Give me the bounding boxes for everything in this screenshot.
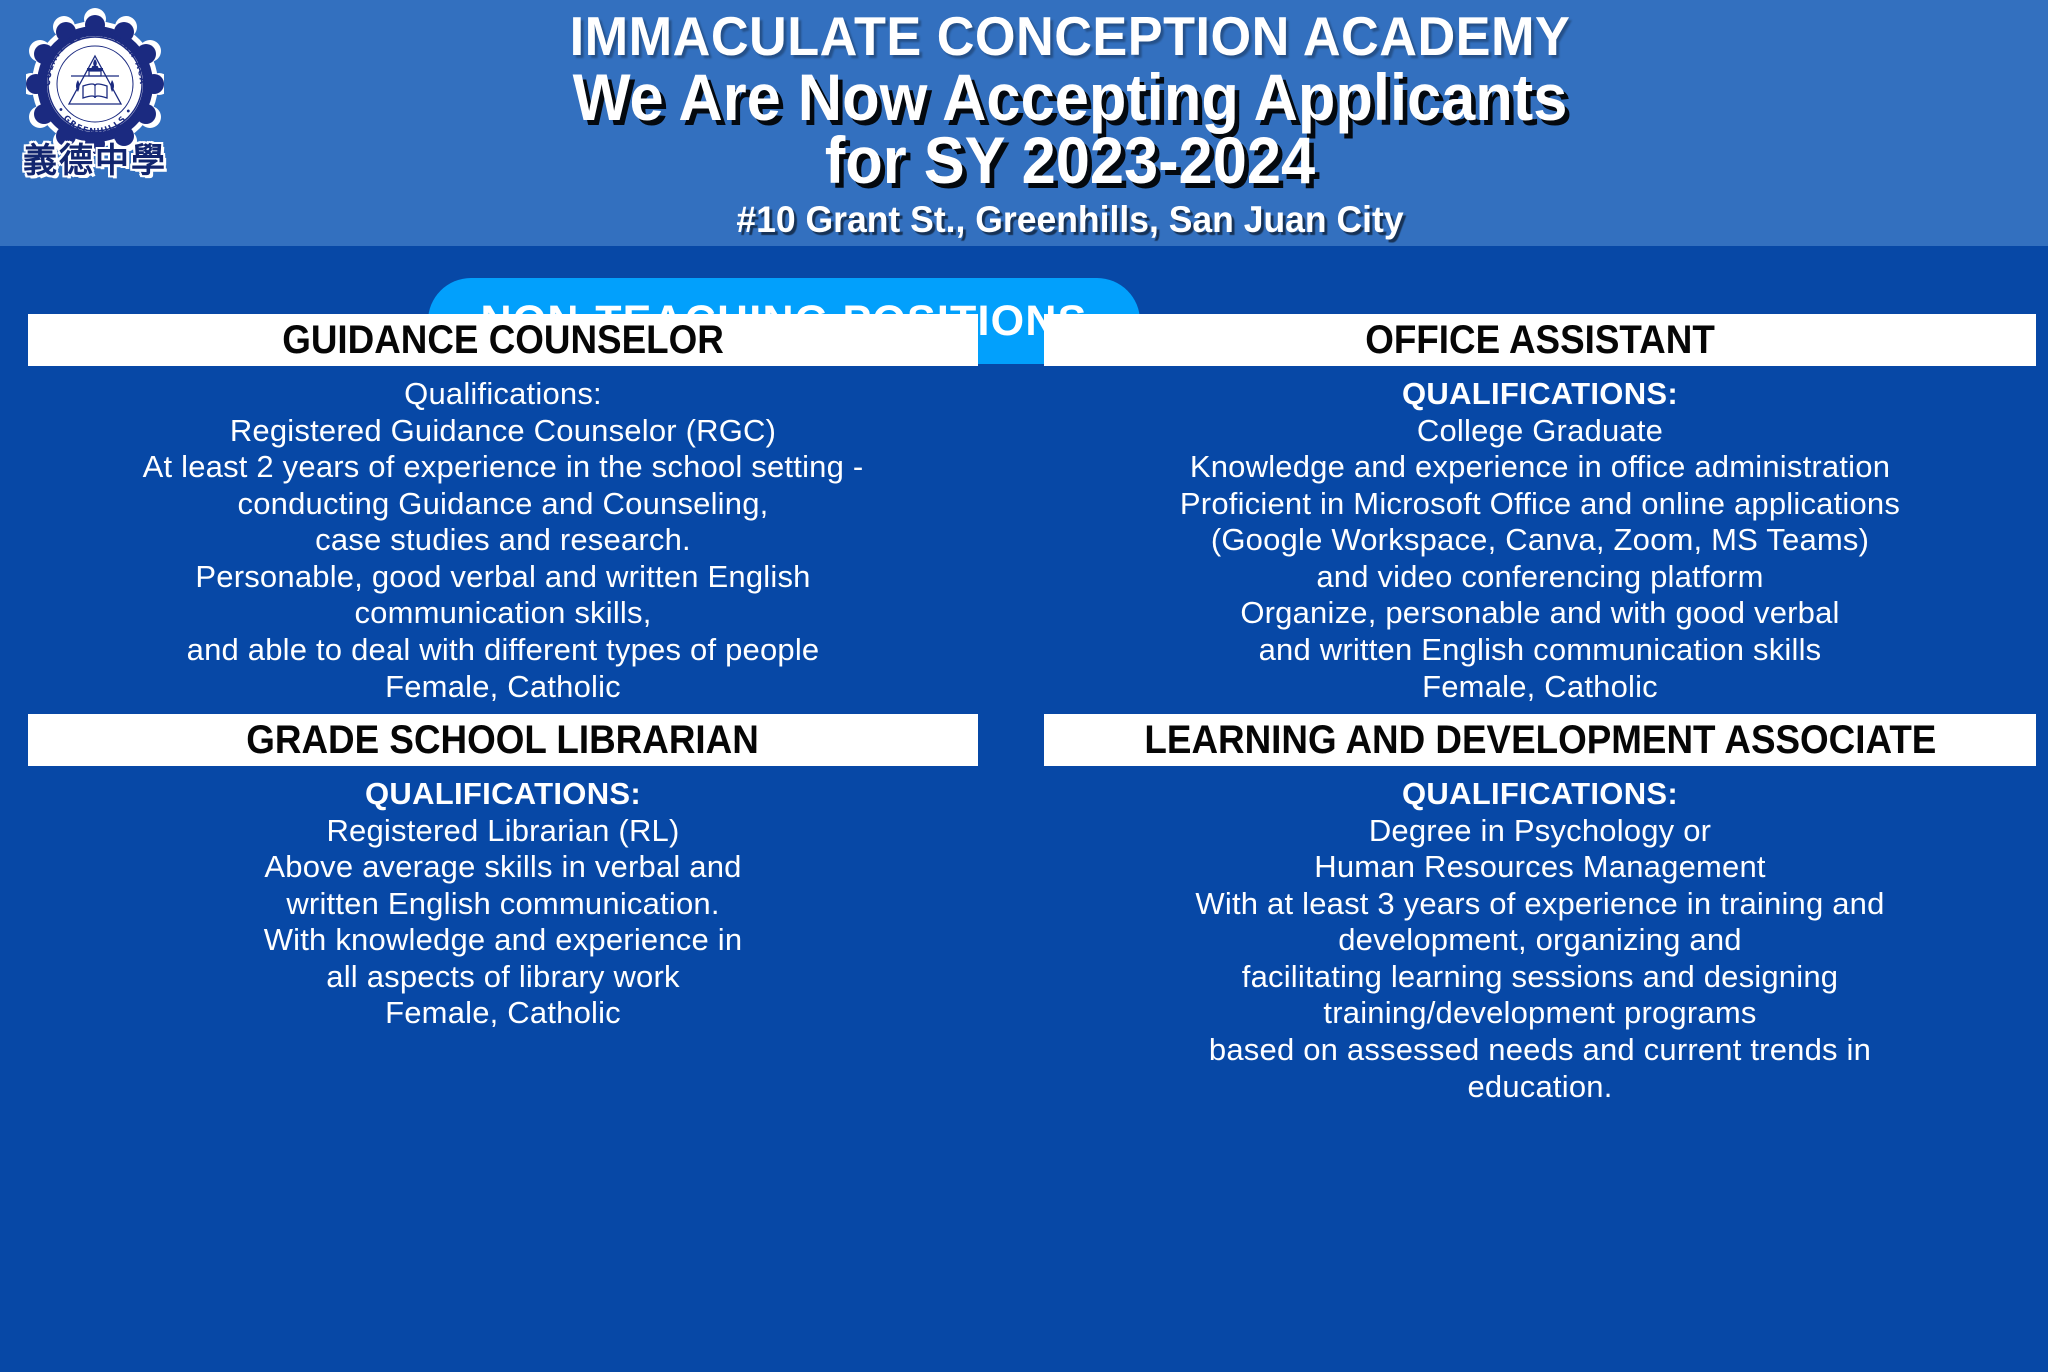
qualification-line: facilitating learning sessions and desig… [1044, 959, 2036, 996]
school-logo: IMMACULATE CONCEPTION ACADEMY • GREENHIL… [10, 4, 180, 224]
position-title: LEARNING AND DEVELOPMENT ASSOCIATE [1144, 718, 1936, 763]
qualification-line: Personable, good verbal and written Engl… [28, 559, 978, 596]
position-title-bar: OFFICE ASSISTANT [1044, 314, 2036, 366]
position-title: GRADE SCHOOL LIBRARIAN [247, 718, 759, 763]
qualification-line: College Graduate [1044, 413, 2036, 450]
school-seal-icon: IMMACULATE CONCEPTION ACADEMY • GREENHIL… [26, 8, 164, 156]
qualification-line: At least 2 years of experience in the sc… [28, 449, 978, 486]
qualification-line: Female, Catholic [28, 995, 978, 1032]
qualifications-heading: QUALIFICATIONS: [28, 776, 978, 813]
headline-line-1: We Are Now Accepting Applicants [261, 64, 1879, 131]
qualification-line: (Google Workspace, Canva, Zoom, MS Teams… [1044, 522, 2036, 559]
position-title-bar: LEARNING AND DEVELOPMENT ASSOCIATE [1044, 714, 2036, 766]
position-details: Qualifications: Registered Guidance Coun… [28, 366, 978, 705]
qualification-line: Female, Catholic [28, 669, 978, 706]
qualification-line: education. [1044, 1069, 2036, 1106]
qualification-line: Registered Guidance Counselor (RGC) [28, 413, 978, 450]
position-details: QUALIFICATIONS: College GraduateKnowledg… [1044, 366, 2036, 705]
qualification-line: written English communication. [28, 886, 978, 923]
position-card-office-assistant: OFFICE ASSISTANT QUALIFICATIONS: College… [1044, 314, 2036, 705]
qualification-line: development, organizing and [1044, 922, 2036, 959]
qualification-line: Human Resources Management [1044, 849, 2036, 886]
header-text-block: IMMACULATE CONCEPTION ACADEMY We Are Now… [200, 8, 1940, 241]
position-card-learning-and-development-associate: LEARNING AND DEVELOPMENT ASSOCIATE QUALI… [1044, 714, 2036, 1105]
qualification-line: Organize, personable and with good verba… [1044, 595, 2036, 632]
qualifications-heading: QUALIFICATIONS: [1044, 376, 2036, 413]
recruitment-poster: IMMACULATE CONCEPTION ACADEMY • GREENHIL… [0, 0, 2048, 1372]
position-title: GUIDANCE COUNSELOR [282, 318, 724, 363]
qualification-line: Above average skills in verbal and [28, 849, 978, 886]
qualifications-list: College GraduateKnowledge and experience… [1044, 413, 2036, 706]
qualification-line: Knowledge and experience in office admin… [1044, 449, 2036, 486]
qualifications-list: Degree in Psychology orHuman Resources M… [1044, 813, 2036, 1106]
qualification-line: With knowledge and experience in [28, 922, 978, 959]
position-card-grade-school-librarian: GRADE SCHOOL LIBRARIAN QUALIFICATIONS: R… [28, 714, 978, 1032]
school-name: IMMACULATE CONCEPTION ACADEMY [244, 8, 1897, 66]
qualification-line: Degree in Psychology or [1044, 813, 2036, 850]
qualifications-heading: QUALIFICATIONS: [1044, 776, 2036, 813]
poster-header: IMMACULATE CONCEPTION ACADEMY • GREENHIL… [0, 0, 2048, 246]
qualifications-list: Registered Librarian (RL)Above average s… [28, 813, 978, 1032]
position-title-bar: GUIDANCE COUNSELOR [28, 314, 978, 366]
qualification-line: all aspects of library work [28, 959, 978, 996]
position-card-guidance-counselor: GUIDANCE COUNSELOR Qualifications: Regis… [28, 314, 978, 705]
qualification-line: With at least 3 years of experience in t… [1044, 886, 2036, 923]
qualification-line: based on assessed needs and current tren… [1044, 1032, 2036, 1069]
position-details: QUALIFICATIONS: Registered Librarian (RL… [28, 766, 978, 1032]
school-chinese-name: 義德中學 [10, 144, 180, 178]
qualification-line: communication skills, [28, 595, 978, 632]
qualification-line: and written English communication skills [1044, 632, 2036, 669]
qualification-line: case studies and research. [28, 522, 978, 559]
position-title: OFFICE ASSISTANT [1365, 318, 1715, 363]
qualification-line: Proficient in Microsoft Office and onlin… [1044, 486, 2036, 523]
qualification-line: Female, Catholic [1044, 669, 2036, 706]
school-address: #10 Grant St., Greenhills, San Juan City [235, 200, 1905, 241]
qualification-line: training/development programs [1044, 995, 2036, 1032]
qualification-line: and able to deal with different types of… [28, 632, 978, 669]
headline-line-2: for SY 2023-2024 [261, 127, 1879, 194]
qualification-line: conducting Guidance and Counseling, [28, 486, 978, 523]
qualifications-list: Registered Guidance Counselor (RGC)At le… [28, 413, 978, 706]
qualifications-heading: Qualifications: [28, 376, 978, 413]
qualification-line: Registered Librarian (RL) [28, 813, 978, 850]
position-title-bar: GRADE SCHOOL LIBRARIAN [28, 714, 978, 766]
position-details: QUALIFICATIONS: Degree in Psychology orH… [1044, 766, 2036, 1105]
qualification-line: and video conferencing platform [1044, 559, 2036, 596]
